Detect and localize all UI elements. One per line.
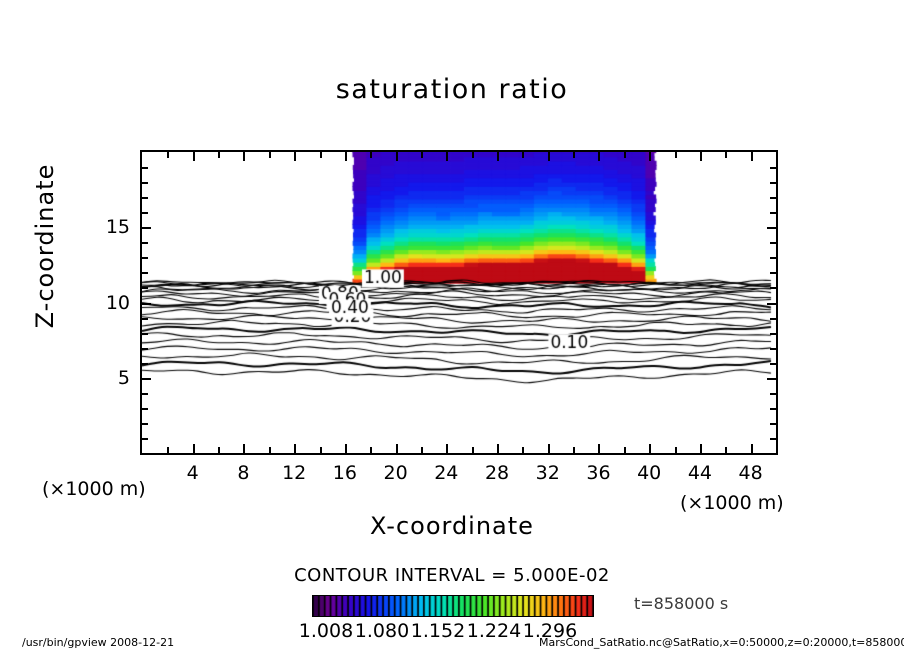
y-tick-right-15 [767, 227, 776, 229]
y-tick-label-10: 10 [92, 292, 130, 314]
x-tick-label-28: 28 [485, 462, 509, 484]
y-tick-right-4 [770, 393, 776, 395]
y-tick-right-19 [770, 167, 776, 169]
x-tick-top-2 [167, 152, 169, 158]
y-tick-14 [142, 242, 148, 244]
colorbar-tick-label-1: 1.080 [355, 620, 409, 642]
x-tick-top-8 [243, 152, 245, 161]
y-tick-right-17 [770, 197, 776, 199]
y-tick-19 [142, 167, 148, 169]
y-tick-6 [142, 363, 148, 365]
x-tick-top-44 [700, 152, 702, 161]
colorbar-tick-label-3: 1.224 [467, 620, 521, 642]
y-tick-11 [142, 287, 148, 289]
y-tick-4 [142, 393, 148, 395]
x-tick-top-32 [548, 152, 550, 161]
colorbar-tick-label-2: 1.152 [411, 620, 465, 642]
y-tick-right-10 [767, 303, 776, 305]
x-tick-top-22 [421, 152, 423, 158]
x-tick-top-28 [497, 152, 499, 161]
y-tick-1 [142, 438, 148, 440]
y-tick-right-11 [770, 287, 776, 289]
colorbar [312, 595, 594, 617]
y-tick-16 [142, 212, 148, 214]
x-tick-top-26 [472, 152, 474, 158]
x-tick-36 [598, 444, 600, 453]
x-tick-label-32: 32 [536, 462, 560, 484]
y-tick-right-16 [770, 212, 776, 214]
y-tick-right-9 [770, 318, 776, 320]
x-tick-top-42 [675, 152, 677, 158]
x-tick-label-8: 8 [237, 462, 249, 484]
x-tick-top-38 [624, 152, 626, 158]
x-tick-8 [243, 444, 245, 453]
y-tick-right-7 [770, 348, 776, 350]
y-tick-right-14 [770, 242, 776, 244]
x-unit-label-right: (×1000 m) [680, 492, 784, 514]
x-tick-label-44: 44 [688, 462, 712, 484]
contour-interval-text: CONTOUR INTERVAL = 5.000E-02 [0, 565, 904, 586]
x-tick-32 [548, 444, 550, 453]
y-tick-18 [142, 182, 148, 184]
x-tick-10 [269, 447, 271, 453]
y-tick-right-12 [770, 272, 776, 274]
x-tick-top-18 [370, 152, 372, 158]
x-tick-top-10 [269, 152, 271, 158]
y-tick-2 [142, 423, 148, 425]
x-tick-top-6 [218, 152, 220, 158]
x-tick-24 [446, 444, 448, 453]
x-tick-26 [472, 447, 474, 453]
y-tick-label-5: 5 [92, 367, 130, 389]
y-tick-13 [142, 257, 148, 259]
x-tick-top-24 [446, 152, 448, 161]
x-tick-label-36: 36 [586, 462, 610, 484]
y-tick-right-3 [770, 408, 776, 410]
x-tick-label-4: 4 [187, 462, 199, 484]
x-tick-top-34 [573, 152, 575, 158]
y-tick-12 [142, 272, 148, 274]
y-tick-15 [142, 227, 151, 229]
y-tick-right-2 [770, 423, 776, 425]
x-tick-2 [167, 447, 169, 453]
x-tick-top-40 [649, 152, 651, 161]
x-tick-top-16 [345, 152, 347, 161]
x-tick-12 [294, 444, 296, 453]
y-axis-title: Z-coordinate [31, 136, 59, 356]
x-tick-44 [700, 444, 702, 453]
x-tick-label-20: 20 [384, 462, 408, 484]
x-tick-top-36 [598, 152, 600, 161]
y-tick-right-18 [770, 182, 776, 184]
x-tick-label-24: 24 [434, 462, 458, 484]
x-tick-top-14 [320, 152, 322, 158]
x-axis-title: X-coordinate [0, 512, 904, 540]
x-tick-top-48 [751, 152, 753, 161]
x-tick-18 [370, 447, 372, 453]
y-tick-8 [142, 333, 148, 335]
y-tick-right-13 [770, 257, 776, 259]
x-tick-14 [320, 447, 322, 453]
y-tick-right-6 [770, 363, 776, 365]
colorbar-tick-label-0: 1.008 [299, 620, 353, 642]
y-tick-10 [142, 303, 151, 305]
x-tick-label-48: 48 [739, 462, 763, 484]
x-tick-4 [193, 444, 195, 453]
x-tick-label-40: 40 [637, 462, 661, 484]
x-tick-46 [725, 447, 727, 453]
y-tick-3 [142, 408, 148, 410]
x-tick-top-20 [396, 152, 398, 161]
x-tick-label-16: 16 [333, 462, 357, 484]
x-tick-48 [751, 444, 753, 453]
x-tick-20 [396, 444, 398, 453]
x-tick-22 [421, 447, 423, 453]
y-tick-right-1 [770, 438, 776, 440]
footer-command: /usr/bin/gpview 2008-12-21 [22, 636, 174, 649]
y-tick-label-15: 15 [92, 216, 130, 238]
y-tick-17 [142, 197, 148, 199]
x-tick-top-46 [725, 152, 727, 158]
y-tick-right-8 [770, 333, 776, 335]
x-tick-top-4 [193, 152, 195, 161]
x-tick-label-12: 12 [282, 462, 306, 484]
footer-dataset: MarsCond_SatRatio.nc@SatRatio,x=0:50000,… [539, 636, 904, 649]
x-tick-top-30 [522, 152, 524, 158]
x-tick-28 [497, 444, 499, 453]
x-tick-42 [675, 447, 677, 453]
x-tick-top-12 [294, 152, 296, 161]
x-tick-30 [522, 447, 524, 453]
contour-line-canvas [142, 152, 776, 453]
x-tick-34 [573, 447, 575, 453]
page-title: saturation ratio [0, 74, 904, 105]
y-tick-7 [142, 348, 148, 350]
plot-area [140, 150, 778, 455]
time-label: t=858000 s [634, 594, 728, 613]
y-tick-9 [142, 318, 148, 320]
x-tick-40 [649, 444, 651, 453]
x-tick-38 [624, 447, 626, 453]
x-tick-6 [218, 447, 220, 453]
y-tick-5 [142, 378, 151, 380]
x-unit-label-left: (×1000 m) [42, 478, 146, 500]
y-tick-right-5 [767, 378, 776, 380]
x-tick-16 [345, 444, 347, 453]
colorbar-gradient [313, 596, 593, 616]
